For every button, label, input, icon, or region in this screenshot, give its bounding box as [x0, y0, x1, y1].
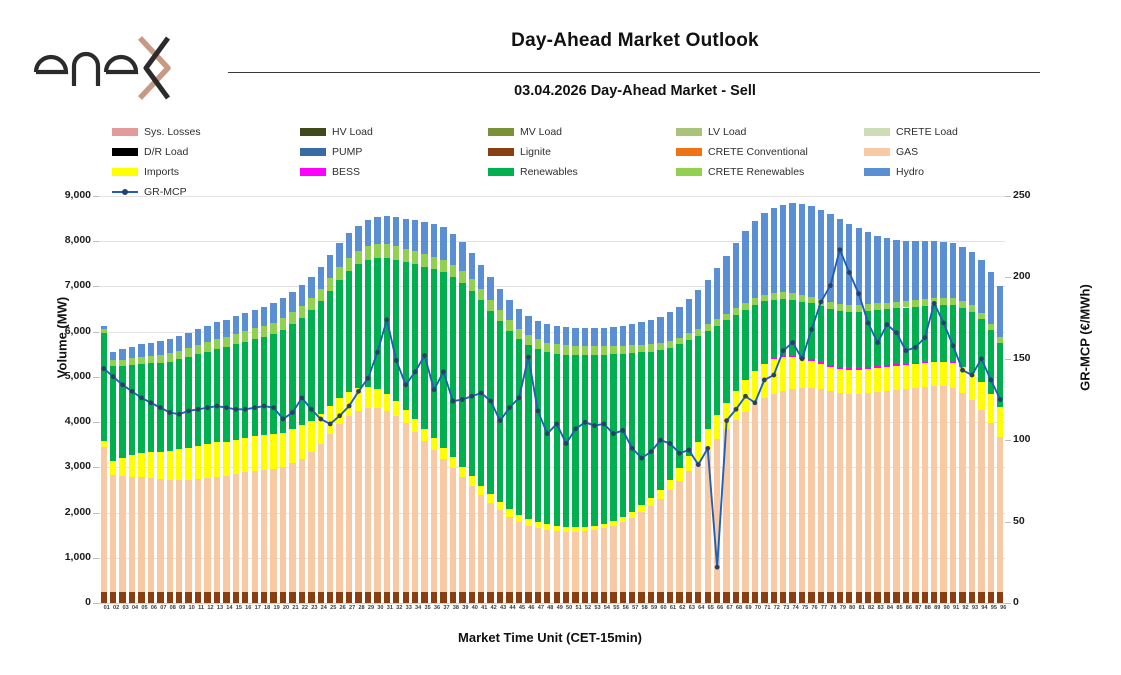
y-axis-right-tick-label: 0: [1013, 596, 1063, 608]
gr-mcp-marker: [715, 565, 720, 570]
gr-mcp-marker: [498, 418, 503, 423]
gr-mcp-marker: [658, 438, 663, 443]
gr-mcp-marker: [941, 321, 946, 326]
y-axis-left-tick-label: 7,000: [31, 279, 91, 291]
gr-mcp-marker: [734, 407, 739, 412]
gr-mcp-marker: [139, 395, 144, 400]
gr-mcp-marker: [469, 394, 474, 399]
gr-mcp-marker: [224, 405, 229, 410]
gr-mcp-marker: [526, 355, 531, 360]
y-axis-left-tick-label: 8,000: [31, 234, 91, 246]
plot-area: 01,0002,0003,0004,0005,0006,0007,0008,00…: [99, 196, 1005, 603]
gr-mcp-marker: [441, 369, 446, 374]
gr-mcp-marker: [894, 330, 899, 335]
gr-mcp-marker: [988, 378, 993, 383]
gr-mcp-marker: [318, 417, 323, 422]
legend-color-swatch: [864, 148, 890, 156]
gr-mcp-marker: [384, 317, 389, 322]
legend-label: CRETE Load: [896, 126, 958, 138]
y-axis-right-tick-label: 50: [1013, 515, 1063, 527]
gr-mcp-marker: [668, 441, 673, 446]
gr-mcp-marker: [762, 378, 767, 383]
gr-mcp-marker: [328, 422, 333, 427]
gr-mcp-marker: [998, 397, 1003, 402]
gr-mcp-marker: [554, 422, 559, 427]
gr-mcp-marker: [875, 340, 880, 345]
gr-mcp-marker: [573, 426, 578, 431]
gr-mcp-marker: [979, 356, 984, 361]
gr-mcp-marker: [111, 374, 116, 379]
legend-item[interactable]: MV Load: [488, 126, 676, 138]
y-axis-right-tickmark: [1005, 522, 1011, 523]
gr-mcp-marker: [262, 404, 267, 409]
legend-label: LV Load: [708, 126, 746, 138]
gr-mcp-marker: [856, 291, 861, 296]
legend-color-swatch: [676, 168, 702, 176]
chart-legend: Sys. LossesHV LoadMV LoadLV LoadCRETE Lo…: [112, 126, 1052, 198]
legend-item[interactable]: CRETE Renewables: [676, 166, 864, 178]
gr-mcp-marker: [819, 299, 824, 304]
gr-mcp-marker: [592, 423, 597, 428]
legend-color-swatch: [300, 128, 326, 136]
gr-mcp-marker: [158, 405, 163, 410]
legend-item[interactable]: LV Load: [676, 126, 864, 138]
legend-line-marker-icon: [112, 188, 138, 196]
legend-label: PUMP: [332, 146, 362, 158]
y-axis-left-tick-label: 2,000: [31, 506, 91, 518]
gr-mcp-marker: [215, 404, 220, 409]
y-axis-left-tick-label: 0: [31, 596, 91, 608]
gr-mcp-marker: [970, 373, 975, 378]
legend-color-swatch: [112, 128, 138, 136]
y-axis-right-tickmark: [1005, 359, 1011, 360]
legend-label: HV Load: [332, 126, 373, 138]
y-axis-right-title: GR-MCP (€/MWh): [1078, 238, 1093, 438]
gr-mcp-marker: [149, 400, 154, 405]
y-axis-left-tickmark: [93, 603, 99, 604]
legend-color-swatch: [864, 128, 890, 136]
legend-label: CRETE Renewables: [708, 166, 804, 178]
gr-mcp-marker: [517, 395, 522, 400]
y-axis-right-tick-label: 150: [1013, 352, 1063, 364]
gr-mcp-marker: [837, 247, 842, 252]
gr-mcp-marker: [771, 373, 776, 378]
x-axis-tick-label: 96: [996, 605, 1010, 611]
legend-color-swatch: [112, 168, 138, 176]
legend-color-swatch: [864, 168, 890, 176]
gr-mcp-marker: [866, 321, 871, 326]
gr-mcp-marker: [535, 409, 540, 414]
y-axis-left-tick-label: 3,000: [31, 460, 91, 472]
gr-mcp-marker: [233, 407, 238, 412]
legend-item[interactable]: D/R Load: [112, 146, 300, 158]
gr-mcp-marker: [932, 301, 937, 306]
gr-mcp-marker: [413, 369, 418, 374]
gr-mcp-marker: [790, 340, 795, 345]
gr-mcp-marker: [583, 420, 588, 425]
gr-mcp-marker: [394, 358, 399, 363]
legend-item[interactable]: Sys. Losses: [112, 126, 300, 138]
y-axis-right-tickmark: [1005, 603, 1011, 604]
gr-mcp-marker: [507, 405, 512, 410]
legend-label: Sys. Losses: [144, 126, 201, 138]
legend-label: Lignite: [520, 146, 551, 158]
gr-mcp-marker: [564, 441, 569, 446]
gr-mcp-marker: [460, 397, 465, 402]
gr-mcp-marker: [271, 405, 276, 410]
gr-mcp-marker: [337, 413, 342, 418]
legend-item[interactable]: Hydro: [864, 166, 1052, 178]
gr-mcp-marker: [432, 387, 437, 392]
gr-mcp-marker: [904, 348, 909, 353]
gr-mcp-marker: [753, 400, 758, 405]
chart-page: Day-Ahead Market Outlook 03.04.2026 Day-…: [0, 0, 1121, 675]
gr-mcp-marker: [186, 409, 191, 414]
gr-mcp-marker: [422, 353, 427, 358]
gr-mcp-marker: [366, 376, 371, 381]
legend-label: MV Load: [520, 126, 562, 138]
gr-mcp-marker: [545, 431, 550, 436]
gr-mcp-marker: [130, 389, 135, 394]
legend-item[interactable]: Renewables: [488, 166, 676, 178]
gr-mcp-marker: [451, 399, 456, 404]
gr-mcp-marker: [479, 391, 484, 396]
gr-mcp-marker: [620, 428, 625, 433]
y-axis-right-tickmark: [1005, 196, 1011, 197]
gr-mcp-marker: [649, 449, 654, 454]
legend-label: GAS: [896, 146, 918, 158]
gr-mcp-marker: [488, 399, 493, 404]
gr-mcp-marker: [696, 462, 701, 467]
gr-mcp-marker: [960, 368, 965, 373]
page-subtitle: 03.04.2026 Day-Ahead Market - Sell: [230, 83, 1040, 99]
y-axis-left-tick-label: 1,000: [31, 551, 91, 563]
legend-label: Imports: [144, 166, 179, 178]
gr-mcp-marker: [809, 327, 814, 332]
gr-mcp-marker: [922, 335, 927, 340]
gr-mcp-marker: [630, 446, 635, 451]
legend-label: BESS: [332, 166, 360, 178]
y-axis-right-tick-label: 250: [1013, 189, 1063, 201]
legend-color-swatch: [676, 148, 702, 156]
x-axis-tick-labels: 0102030405060708091011121314151617181920…: [99, 605, 1005, 619]
legend-item[interactable]: PUMP: [300, 146, 488, 158]
gr-mcp-marker: [800, 356, 805, 361]
legend-color-swatch: [112, 148, 138, 156]
gr-mcp-marker: [913, 345, 918, 350]
gr-mcp-marker: [281, 417, 286, 422]
gr-mcp-marker: [602, 422, 607, 427]
y-axis-left-tick-label: 9,000: [31, 189, 91, 201]
gr-mcp-marker: [177, 412, 182, 417]
legend-item[interactable]: Imports: [112, 166, 300, 178]
gr-mcp-marker: [724, 418, 729, 423]
legend-item[interactable]: CRETE Load: [864, 126, 1052, 138]
gr-mcp-marker: [375, 350, 380, 355]
legend-color-swatch: [300, 168, 326, 176]
title-divider: [228, 72, 1040, 73]
gr-mcp-marker: [300, 395, 305, 400]
gr-mcp-marker: [167, 410, 172, 415]
page-title: Day-Ahead Market Outlook: [230, 30, 1040, 52]
legend-label: CRETE Conventional: [708, 146, 808, 158]
gr-mcp-marker: [951, 343, 956, 348]
legend-item[interactable]: BESS: [300, 166, 488, 178]
gr-mcp-marker: [403, 382, 408, 387]
legend-label: Renewables: [520, 166, 578, 178]
gr-mcp-marker: [677, 451, 682, 456]
gr-mcp-marker: [828, 283, 833, 288]
y-axis-right-tick-label: 200: [1013, 270, 1063, 282]
legend-item[interactable]: HV Load: [300, 126, 488, 138]
gr-mcp-marker: [686, 448, 691, 453]
gr-mcp-marker: [781, 348, 786, 353]
legend-color-swatch: [676, 128, 702, 136]
y-axis-left-tick-label: 4,000: [31, 415, 91, 427]
gr-mcp-line: [99, 196, 1005, 603]
gridline: [99, 603, 1005, 604]
legend-color-swatch: [488, 148, 514, 156]
gr-mcp-marker: [101, 366, 106, 371]
enex-logo: [28, 28, 178, 106]
gr-mcp-marker: [885, 322, 890, 327]
legend-color-swatch: [300, 148, 326, 156]
gr-mcp-marker: [743, 394, 748, 399]
gr-mcp-marker: [611, 431, 616, 436]
gr-mcp-marker: [120, 382, 125, 387]
legend-color-swatch: [488, 128, 514, 136]
gr-mcp-marker: [309, 407, 314, 412]
legend-item[interactable]: GAS: [864, 146, 1052, 158]
gr-mcp-marker: [639, 456, 644, 461]
legend-item[interactable]: CRETE Conventional: [676, 146, 864, 158]
legend-label: D/R Load: [144, 146, 188, 158]
x-axis-title: Market Time Unit (CET-15min): [240, 630, 860, 645]
y-axis-right-tickmark: [1005, 277, 1011, 278]
gr-mcp-marker: [196, 407, 201, 412]
y-axis-right-tickmark: [1005, 440, 1011, 441]
gr-mcp-marker: [252, 405, 257, 410]
gr-mcp-marker: [243, 407, 248, 412]
gr-mcp-marker: [290, 410, 295, 415]
gr-mcp-marker: [356, 389, 361, 394]
gr-mcp-marker: [205, 405, 210, 410]
gr-mcp-marker: [705, 446, 710, 451]
y-axis-right-tick-label: 100: [1013, 433, 1063, 445]
legend-color-swatch: [488, 168, 514, 176]
gr-mcp-polyline: [104, 250, 1001, 567]
gr-mcp-marker: [347, 404, 352, 409]
y-axis-left-tick-label: 6,000: [31, 325, 91, 337]
legend-label: Hydro: [896, 166, 924, 178]
gr-mcp-marker: [847, 270, 852, 275]
legend-item[interactable]: Lignite: [488, 146, 676, 158]
y-axis-left-tick-label: 5,000: [31, 370, 91, 382]
